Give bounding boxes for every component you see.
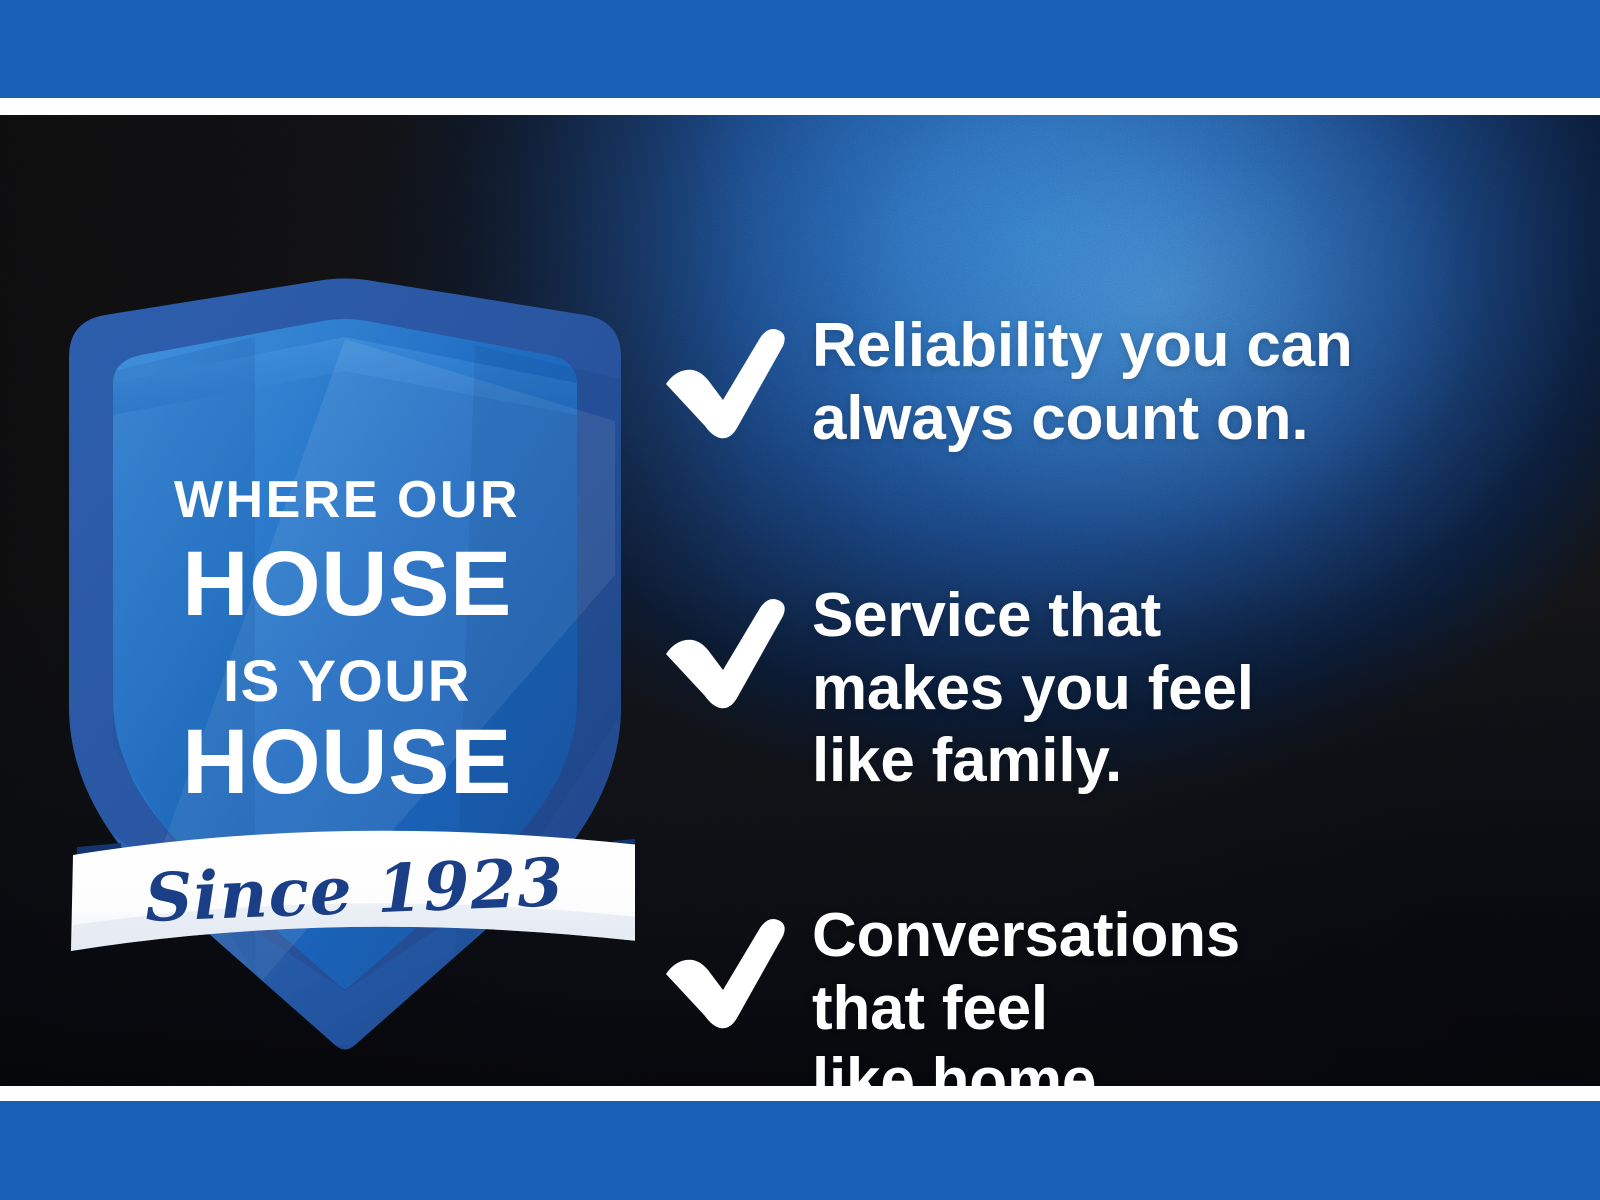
shield-line-1: WHERE OUR (174, 471, 520, 529)
ribbon-since-text: Since 1923 (143, 843, 565, 937)
checklist-item: Service that makes you feel like family. (660, 580, 1254, 798)
checkmark-icon (660, 324, 790, 442)
poster-canvas: WHERE OUR HOUSE IS YOUR HOUSE (0, 115, 1600, 1086)
checkmark-icon (660, 914, 790, 1032)
top-white-divider (0, 98, 1600, 115)
promo-graphic: WHERE OUR HOUSE IS YOUR HOUSE (0, 0, 1600, 1200)
checklist-item-text: Reliability you can always count on. (790, 310, 1353, 455)
shield-line-4: HOUSE (182, 711, 512, 813)
checklist-item-text: Service that makes you feel like family. (790, 580, 1254, 798)
checklist-item: Reliability you can always count on. (660, 310, 1353, 455)
shield-line-2: HOUSE (182, 533, 512, 635)
top-brand-bar (0, 0, 1600, 98)
checklist-item: Conversations that feel like home. (660, 900, 1240, 1086)
bottom-brand-bar (0, 1101, 1600, 1200)
bottom-white-divider (0, 1086, 1600, 1101)
shield-line-3: IS YOUR (223, 649, 471, 714)
brand-shield-badge: WHERE OUR HOUSE IS YOUR HOUSE (55, 275, 635, 1065)
checklist-item-text: Conversations that feel like home. (790, 900, 1240, 1086)
checkmark-icon (660, 594, 790, 712)
